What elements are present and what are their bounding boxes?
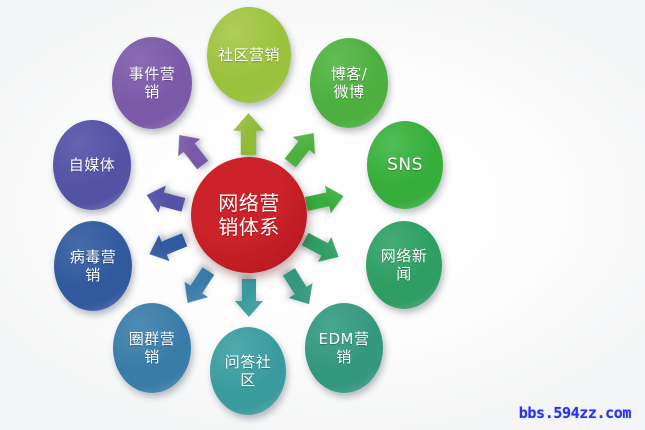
node-event-marketing[interactable]: 事件营销: [112, 37, 192, 129]
node-label: EDM营销: [315, 330, 374, 367]
arrow-to-self-media: [142, 180, 188, 219]
arrow-to-edm-marketing: [276, 263, 323, 313]
node-label-line: 销: [125, 348, 180, 366]
marketing-system-diagram: 社区营销博客/微博SNS网络新闻EDM营销问答社区圈群营销病毒营销自媒体事件营销…: [0, 0, 645, 430]
arrow-to-blog-weibo: [278, 123, 326, 173]
node-label-line: 销: [125, 83, 180, 101]
arrow-to-viral-marketing: [143, 226, 191, 269]
watermark: bbs.594zz.com: [519, 404, 631, 422]
node-label: 网络新闻: [377, 247, 432, 284]
node-community-marketing[interactable]: 社区营销: [207, 7, 291, 103]
node-viral-marketing[interactable]: 病毒营销: [54, 221, 132, 311]
node-edm-marketing[interactable]: EDM营销: [305, 303, 383, 393]
node-circle-group-marketing[interactable]: 圈群营销: [113, 303, 191, 393]
node-web-news[interactable]: 网络新闻: [366, 221, 442, 309]
node-self-media[interactable]: 自媒体: [53, 120, 131, 210]
node-label: 问答社区: [221, 353, 276, 390]
node-label-line: 网络营: [214, 191, 284, 215]
node-label-line: 微博: [327, 83, 372, 101]
node-sns[interactable]: SNS: [367, 121, 443, 209]
node-label-line: 区: [221, 371, 276, 389]
node-label: 事件营销: [125, 65, 180, 102]
arrow-to-community-marketing: [232, 112, 265, 156]
node-label-line: 销: [66, 266, 121, 284]
node-label: 社区营销: [214, 46, 284, 64]
node-label: 自媒体: [65, 156, 120, 174]
node-label-line: SNS: [383, 155, 427, 176]
arrow-to-web-news: [297, 225, 346, 270]
node-label: 博客/微博: [327, 65, 372, 102]
node-label-line: 网络新: [377, 247, 432, 265]
node-label: 病毒营销: [66, 248, 121, 285]
node-label: SNS: [383, 155, 427, 176]
node-qa-community[interactable]: 问答社区: [210, 327, 286, 415]
hub-label: 网络营销体系: [214, 191, 284, 240]
node-label-line: 社区营销: [214, 46, 284, 64]
hub-network-marketing-system[interactable]: 网络营销体系: [191, 157, 307, 273]
node-label-line: EDM营: [315, 330, 374, 348]
arrow-to-qa-community: [234, 278, 264, 318]
node-label: 圈群营销: [125, 330, 180, 367]
node-label-line: 闻: [377, 265, 432, 283]
node-blog-weibo[interactable]: 博客/微博: [310, 38, 388, 128]
arrow-to-event-marketing: [167, 125, 215, 175]
node-label-line: 销体系: [214, 215, 284, 239]
node-label-line: 博客/: [327, 65, 372, 83]
node-label-line: 病毒营: [66, 248, 121, 266]
arrow-to-circle-group-marketing: [175, 262, 222, 312]
node-label-line: 事件营: [125, 65, 180, 83]
node-label-line: 销: [315, 348, 374, 366]
arrow-to-sns: [302, 181, 347, 219]
node-label-line: 问答社: [221, 353, 276, 371]
node-label-line: 圈群营: [125, 330, 180, 348]
node-label-line: 自媒体: [65, 156, 120, 174]
